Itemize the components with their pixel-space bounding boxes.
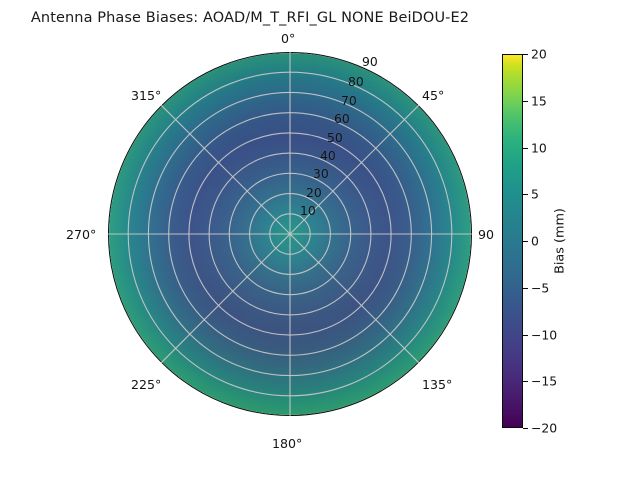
theta-tick-90: 90 xyxy=(478,227,494,242)
polar-axes xyxy=(108,52,472,416)
theta-tick-135: 135° xyxy=(422,377,452,392)
r-tick-30: 30 xyxy=(313,166,329,181)
colorbar-tick-15 xyxy=(523,101,528,102)
theta-tick-270: 270° xyxy=(66,227,96,242)
r-tick-60: 60 xyxy=(334,111,350,126)
grid-spoke-225 xyxy=(161,234,290,363)
r-tick-70: 70 xyxy=(341,93,357,108)
figure-canvas: Antenna Phase Biases: AOAD/M_T_RFI_GL NO… xyxy=(0,0,640,480)
polar-grid xyxy=(108,52,472,416)
colorbar-tick-5 xyxy=(523,194,528,195)
colorbar-label-m20: −20 xyxy=(531,421,557,436)
grid-spoke-135 xyxy=(290,234,419,363)
theta-tick-225: 225° xyxy=(131,377,161,392)
r-tick-50: 50 xyxy=(327,130,343,145)
r-tick-10: 10 xyxy=(300,203,316,218)
colorbar-axis-label: Bias (mm) xyxy=(553,208,568,274)
theta-tick-315: 315° xyxy=(131,88,161,103)
colorbar-label-m10: −10 xyxy=(531,327,557,342)
colorbar-label-5: 5 xyxy=(531,187,539,202)
theta-tick-0: 0° xyxy=(281,31,295,46)
colorbar-tick-m20 xyxy=(523,428,528,429)
colorbar-tick-0 xyxy=(523,241,528,242)
theta-tick-45: 45° xyxy=(422,88,444,103)
r-tick-40: 40 xyxy=(320,148,336,163)
colorbar-label-0: 0 xyxy=(531,234,539,249)
theta-tick-180: 180° xyxy=(272,436,302,451)
colorbar-label-20: 20 xyxy=(531,47,547,62)
colorbar-tick-10 xyxy=(523,148,528,149)
r-tick-90: 90 xyxy=(362,54,378,69)
r-tick-20: 20 xyxy=(306,185,322,200)
colorbar-label-15: 15 xyxy=(531,93,547,108)
colorbar-tick-m15 xyxy=(523,381,528,382)
colorbar[interactable]: 20 15 10 5 0 −5 −10 −15 −20 xyxy=(502,54,523,428)
colorbar-label-m15: −15 xyxy=(531,374,557,389)
colorbar-tick-20 xyxy=(523,54,528,55)
colorbar-gradient xyxy=(502,54,523,428)
r-tick-80: 80 xyxy=(348,74,364,89)
colorbar-tick-m10 xyxy=(523,335,528,336)
colorbar-label-m5: −5 xyxy=(531,280,549,295)
page-title: Antenna Phase Biases: AOAD/M_T_RFI_GL NO… xyxy=(0,10,500,26)
colorbar-label-10: 10 xyxy=(531,140,547,155)
colorbar-tick-m5 xyxy=(523,288,528,289)
grid-spoke-315 xyxy=(161,105,290,234)
